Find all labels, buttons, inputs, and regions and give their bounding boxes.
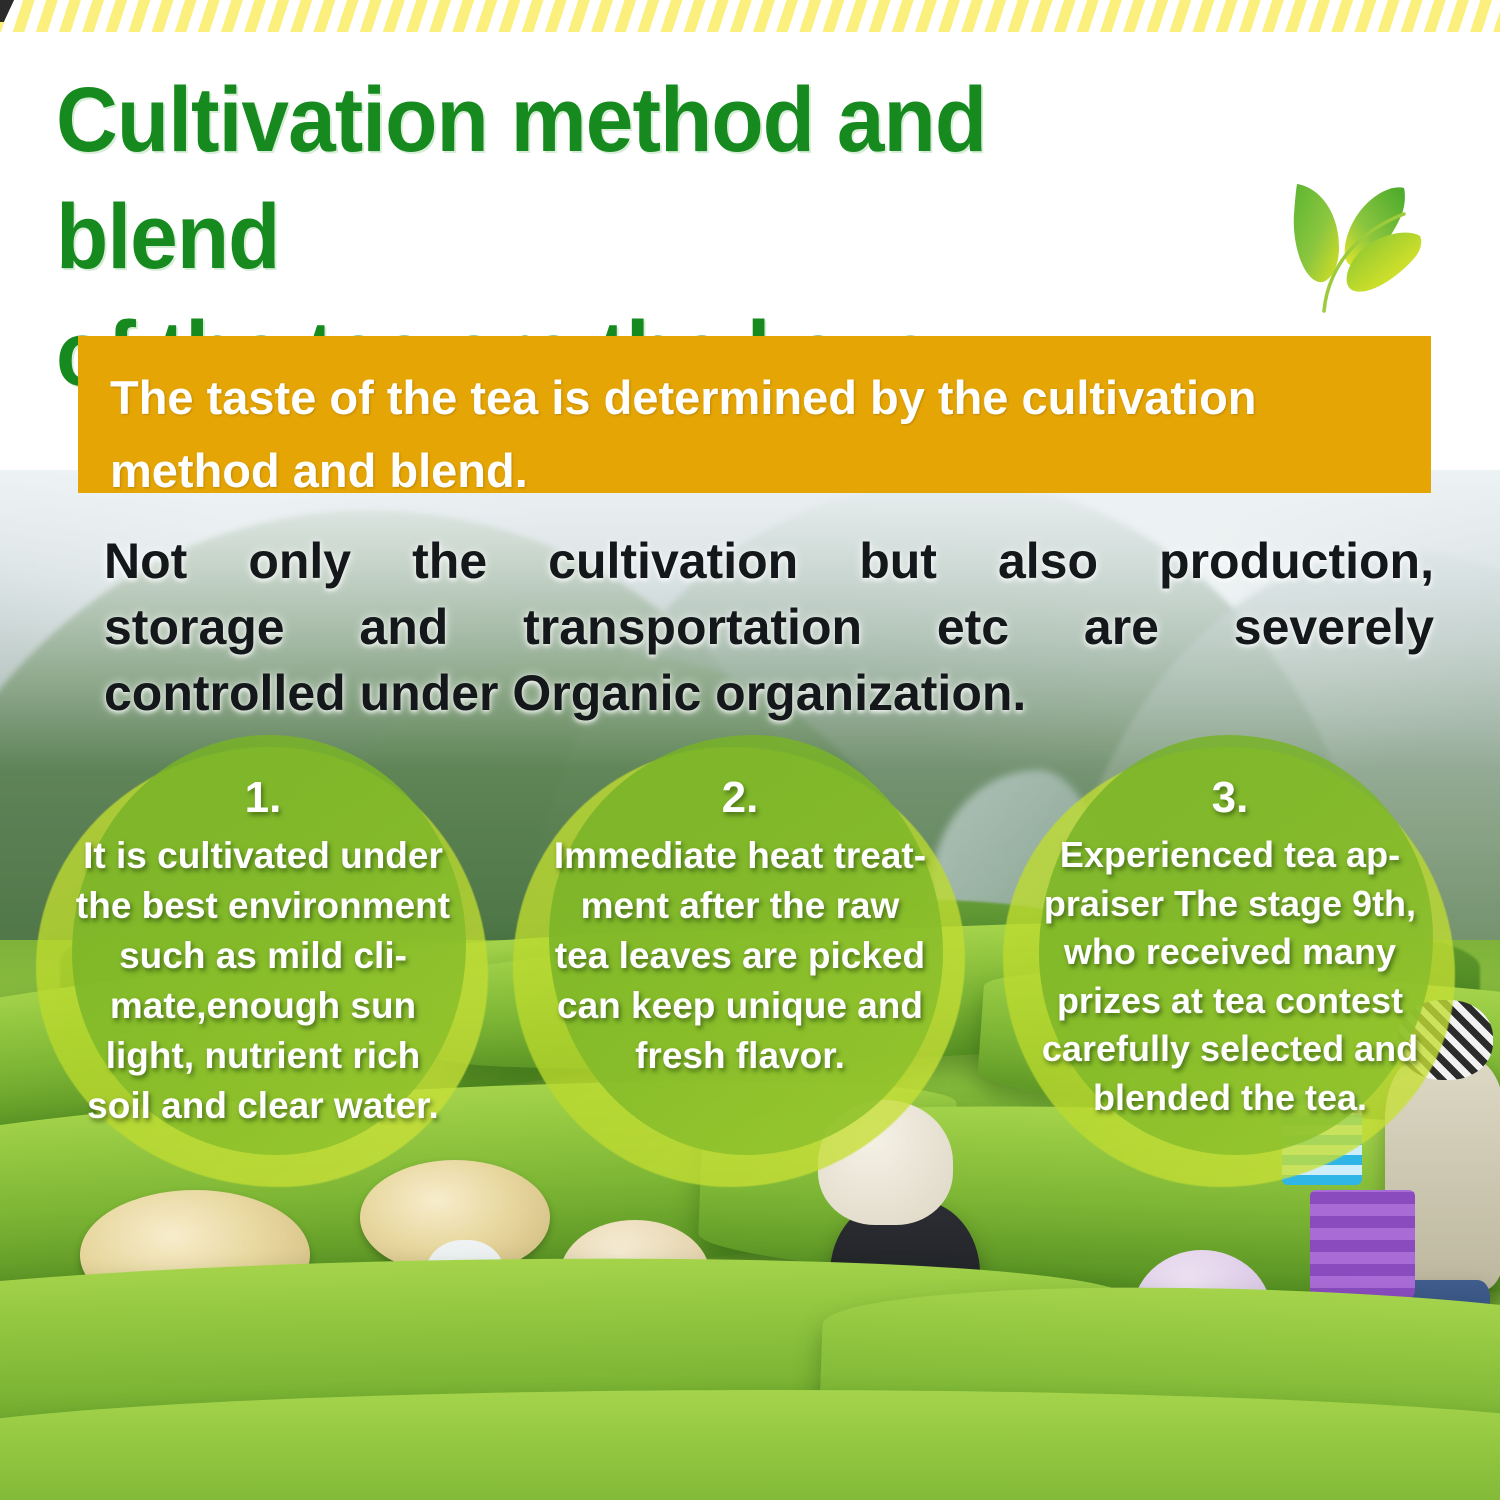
- banner-text: The taste of the tea is determined by th…: [110, 362, 1401, 508]
- paragraph-line-1: Not only the cultivation but also produc…: [104, 528, 1434, 594]
- callout-text: It is cultivated under the best environm…: [28, 831, 498, 1131]
- tea-leaf-icon: [1278, 172, 1428, 314]
- diagonal-yellow-stripe-band: [0, 0, 1500, 32]
- poster-root: Cultivation method and blend of the tea …: [0, 0, 1500, 1500]
- paragraph-line-2: storage and transportation etc are sever…: [104, 594, 1434, 660]
- callout-number: 2.: [505, 773, 975, 823]
- callout-number: 1.: [28, 773, 498, 823]
- callout-group: 1. It is cultivated under the best envir…: [0, 735, 1500, 1205]
- tea-row: [0, 1390, 1500, 1500]
- callout-card-3: 3. Experienced tea ap- praiser The stage…: [995, 735, 1465, 1205]
- body-paragraph: Not only the cultivation but also produc…: [104, 528, 1434, 726]
- callout-text: Immediate heat treat- ment after the raw…: [505, 831, 975, 1081]
- callout-number: 3.: [995, 773, 1465, 823]
- callout-card-2: 2. Immediate heat treat- ment after the …: [505, 735, 975, 1205]
- callout-card-1: 1. It is cultivated under the best envir…: [28, 735, 498, 1205]
- paragraph-line-3: controlled under Organic organization.: [104, 660, 1434, 726]
- highlight-banner: The taste of the tea is determined by th…: [78, 336, 1431, 493]
- callout-text: Experienced tea ap- praiser The stage 9t…: [995, 831, 1465, 1123]
